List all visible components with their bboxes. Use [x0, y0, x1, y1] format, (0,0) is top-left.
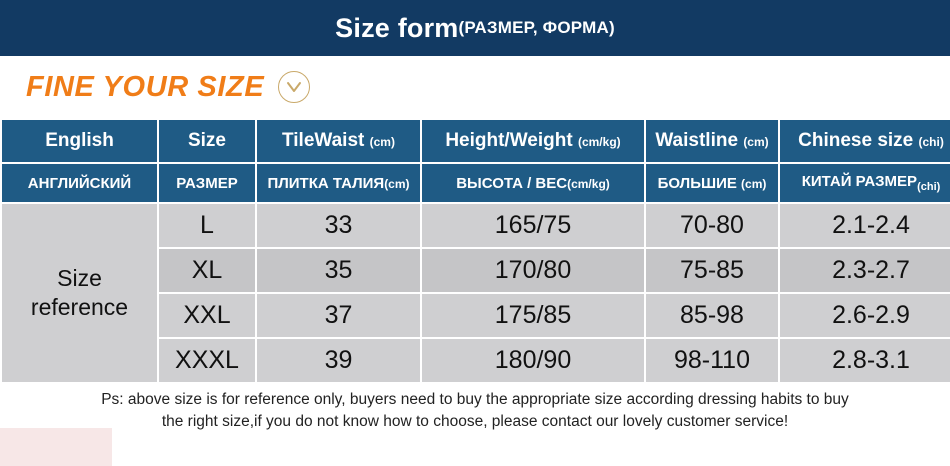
column-header-text: БОЛЬШИЕ — [658, 175, 737, 192]
footer-note: Ps: above size is for reference only, bu… — [0, 389, 950, 434]
cell-tile-waist: 35 — [257, 249, 420, 292]
size-reference-line1: Size — [2, 264, 157, 293]
column-header-chinese-size-ru: КИТАЙ РАЗМЕР(chi) — [780, 164, 950, 202]
table-header-row-russian: АНГЛИЙСКИЙ РАЗМЕР ПЛИТКА ТАЛИЯ(cm) ВЫСОТ… — [2, 164, 950, 202]
cell-waistline: 98-110 — [646, 339, 778, 382]
page-title: Size form — [335, 13, 458, 44]
cell-height-weight: 180/90 — [422, 339, 644, 382]
column-header-text: КИТАЙ РАЗМЕР — [802, 173, 917, 190]
column-header-unit: (cm/kg) — [567, 177, 610, 191]
cell-size: XL — [159, 249, 255, 292]
section-heading-label: FINE YOUR SIZE — [26, 71, 264, 104]
column-header-text: Waistline — [655, 130, 738, 151]
cell-tile-waist: 33 — [257, 204, 420, 247]
column-header-text: Chinese size — [798, 130, 913, 151]
column-header-size-ru: РАЗМЕР — [159, 164, 255, 202]
column-header-text: Size — [188, 130, 226, 151]
cell-waistline: 70-80 — [646, 204, 778, 247]
footer-note-line1: Ps: above size is for reference only, bu… — [14, 389, 936, 411]
column-header-unit: (cm) — [741, 177, 766, 191]
column-header-text: TileWaist — [282, 130, 364, 151]
cell-size: XXL — [159, 294, 255, 337]
size-reference-line2: reference — [2, 293, 157, 322]
column-header-tilewaist-ru: ПЛИТКА ТАЛИЯ(cm) — [257, 164, 420, 202]
size-chart-table: English Size TileWaist (cm) Height/Weigh… — [0, 118, 950, 384]
cell-tile-waist: 39 — [257, 339, 420, 382]
column-header-unit: (chi) — [917, 181, 940, 193]
section-heading: FINE YOUR SIZE — [0, 56, 950, 118]
column-header-waistline: Waistline (cm) — [646, 120, 778, 162]
cell-size: XXXL — [159, 339, 255, 382]
column-header-english: English — [2, 120, 157, 162]
cell-chinese-size: 2.8-3.1 — [780, 339, 950, 382]
column-header-waistline-ru: БОЛЬШИЕ (cm) — [646, 164, 778, 202]
footer-note-line2: the right size,if you do not know how to… — [14, 411, 936, 433]
column-header-text: АНГЛИЙСКИЙ — [28, 175, 131, 192]
column-header-size: Size — [159, 120, 255, 162]
column-header-text: English — [45, 130, 114, 151]
column-header-unit: (cm) — [370, 135, 395, 149]
column-header-text: ВЫСОТА / ВЕС — [456, 175, 567, 192]
cell-tile-waist: 37 — [257, 294, 420, 337]
column-header-text: Height/Weight — [445, 130, 572, 151]
table-row: Size reference L 33 165/75 70-80 2.1-2.4 — [2, 204, 950, 247]
cell-waistline: 75-85 — [646, 249, 778, 292]
cell-height-weight: 165/75 — [422, 204, 644, 247]
column-header-unit: (chi) — [919, 135, 944, 149]
cell-size: L — [159, 204, 255, 247]
column-header-text: ПЛИТКА ТАЛИЯ — [267, 175, 384, 192]
column-header-height-weight: Height/Weight (cm/kg) — [422, 120, 644, 162]
cell-chinese-size: 2.1-2.4 — [780, 204, 950, 247]
column-header-unit: (cm) — [384, 177, 409, 191]
size-reference-label: Size reference — [2, 204, 157, 382]
cell-chinese-size: 2.6-2.9 — [780, 294, 950, 337]
column-header-tilewaist: TileWaist (cm) — [257, 120, 420, 162]
column-header-english-ru: АНГЛИЙСКИЙ — [2, 164, 157, 202]
column-header-text: РАЗМЕР — [176, 175, 237, 192]
page-title-translation: (РАЗМЕР, ФОРМА) — [459, 18, 615, 38]
chevron-down-circle-icon — [278, 71, 310, 103]
column-header-height-weight-ru: ВЫСОТА / ВЕС(cm/kg) — [422, 164, 644, 202]
cell-chinese-size: 2.3-2.7 — [780, 249, 950, 292]
cell-height-weight: 175/85 — [422, 294, 644, 337]
cell-waistline: 85-98 — [646, 294, 778, 337]
column-header-unit: (cm/kg) — [578, 135, 621, 149]
table-header-row-english: English Size TileWaist (cm) Height/Weigh… — [2, 120, 950, 162]
cell-height-weight: 170/80 — [422, 249, 644, 292]
column-header-unit: (cm) — [743, 135, 768, 149]
page-title-banner: Size form(РАЗМЕР, ФОРМА) — [0, 0, 950, 56]
column-header-chinese-size: Chinese size (chi) — [780, 120, 950, 162]
